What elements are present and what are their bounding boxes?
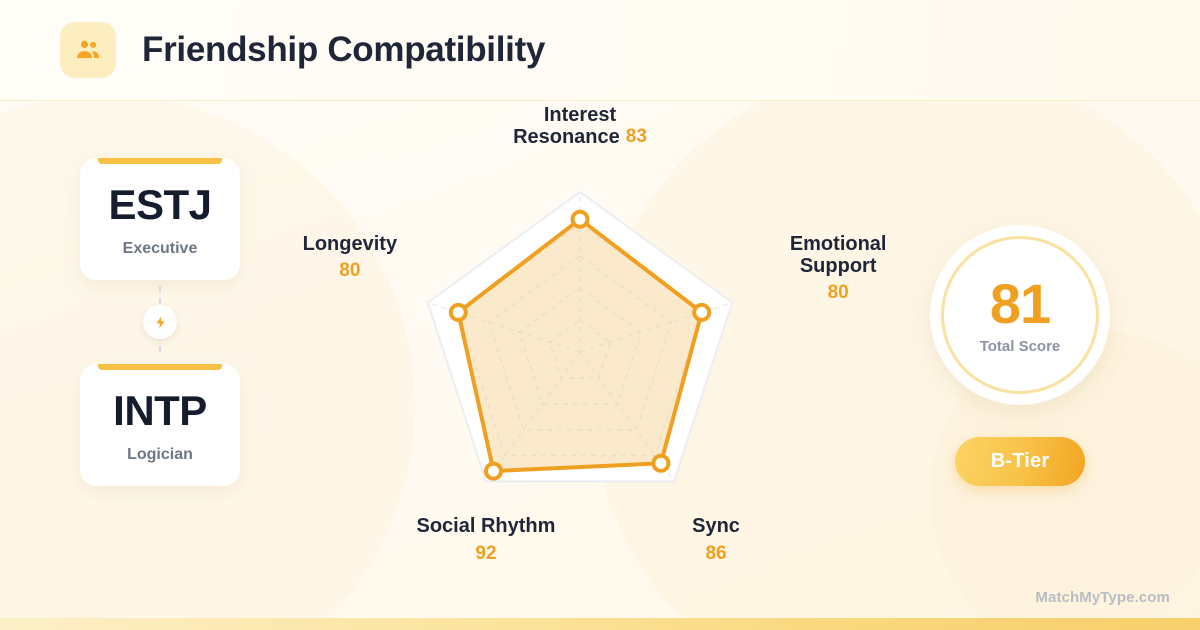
people-group-icon (60, 22, 116, 78)
header-bar: Friendship Compatibility (0, 0, 1200, 101)
total-score-panel: 81 Total Score B-Tier (900, 225, 1140, 486)
axis-label-value: 86 (646, 543, 786, 564)
axis-label-interest-resonance: Interest Resonance83 (475, 104, 685, 149)
axis-label-text: Emotional Support (790, 233, 887, 277)
axis-label-value: 83 (626, 126, 647, 147)
axis-label-social-rhythm: Social Rhythm92 (386, 515, 586, 564)
tier-badge[interactable]: B-Tier (955, 437, 1086, 486)
type-card-first[interactable]: ESTJ Executive (80, 158, 240, 280)
axis-label-longevity: Longevity80 (260, 233, 440, 282)
axis-label-text: Social Rhythm (416, 515, 555, 537)
axis-label-sync: Sync86 (646, 515, 786, 564)
radar-chart: Interest Resonance83 Emotional Support80… (280, 101, 900, 630)
lightning-bolt-icon (143, 305, 177, 339)
page-title: Friendship Compatibility (142, 30, 545, 70)
infographic-canvas: Friendship Compatibility ESTJ Executive … (0, 0, 1200, 630)
type-connector (80, 280, 240, 364)
type-code-second: INTP (88, 390, 232, 432)
score-value: 81 (990, 276, 1050, 332)
axis-label-text: Longevity (303, 233, 397, 255)
personality-type-pair: ESTJ Executive INTP Logician (80, 158, 240, 486)
bottom-accent-bar (0, 618, 1200, 630)
axis-label-value: 92 (386, 543, 586, 564)
score-label: Total Score (980, 338, 1061, 355)
axis-label-value: 80 (260, 260, 440, 281)
type-name-second: Logician (88, 446, 232, 464)
score-circle: 81 Total Score (930, 225, 1110, 405)
type-name-first: Executive (88, 240, 232, 258)
type-card-second[interactable]: INTP Logician (80, 364, 240, 486)
axis-label-text: Interest Resonance (513, 104, 620, 148)
axis-label-text: Sync (692, 515, 740, 537)
type-code-first: ESTJ (88, 184, 232, 226)
radar-chart-svg (280, 101, 900, 630)
site-watermark: MatchMyType.com (1035, 589, 1170, 606)
